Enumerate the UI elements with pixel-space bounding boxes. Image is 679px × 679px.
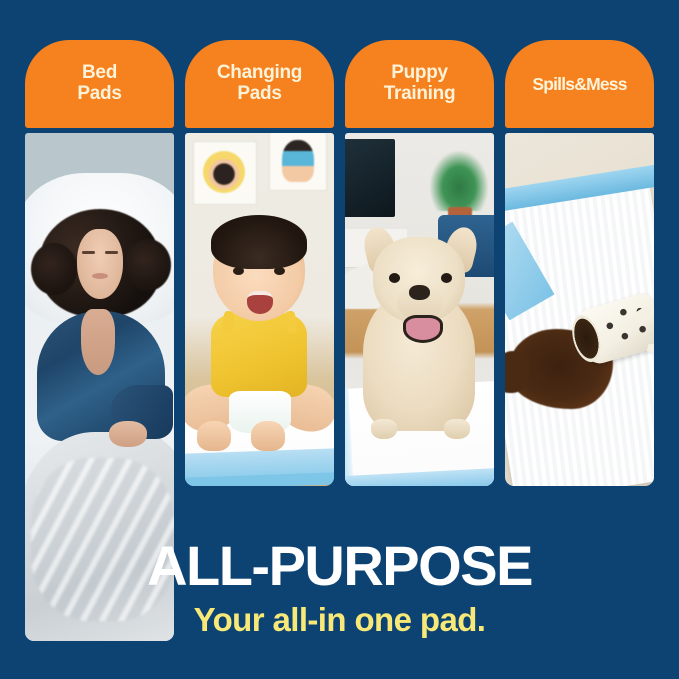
woman-eye-right [105, 251, 118, 254]
baby-foot-right [251, 421, 285, 451]
headline-main: ALL-PURPOSE [0, 538, 679, 594]
dog-eye-right [441, 273, 452, 283]
tab-label-spills-mess: Spills&Mess [532, 75, 626, 94]
wall-poster-boy [269, 133, 327, 191]
houseplant [430, 151, 488, 211]
woman-eye-left [82, 251, 95, 254]
tab-label-changing-pads: Changing Pads [217, 63, 302, 104]
headline-sub: Your all-in one pad. [0, 603, 679, 636]
dog-paw-right [444, 419, 470, 439]
headline-block: ALL-PURPOSE Your all-in one pad. [0, 538, 679, 636]
dog-paw-left [371, 419, 397, 439]
photo-changing-pads [185, 133, 334, 486]
tab-changing-pads: Changing Pads [185, 40, 334, 128]
dog-nose [409, 285, 430, 300]
photo-puppy-training [345, 133, 494, 486]
woman-hand [109, 421, 147, 447]
baby-foot-left [197, 421, 231, 451]
baby-hair [211, 215, 307, 269]
dog-eye-left [389, 273, 400, 283]
wall-poster-girl [193, 141, 257, 205]
woman-chest [81, 309, 115, 375]
woman-lips [92, 273, 108, 279]
television [345, 139, 395, 217]
panel-puppy-training: Puppy Training [345, 40, 494, 486]
dog-tongue [403, 315, 443, 343]
baby-mouth [247, 291, 273, 314]
tab-label-puppy-training: Puppy Training [384, 63, 456, 104]
tab-label-bed-pads: Bed Pads [77, 63, 121, 104]
panel-spills-mess: Spills&Mess [505, 40, 654, 486]
woman-face [77, 229, 123, 299]
tab-bed-pads: Bed Pads [25, 40, 174, 128]
product-poster: Bed Pads Changing Pads [0, 0, 679, 679]
tab-spills-mess: Spills&Mess [505, 40, 654, 128]
baby-strap-right [285, 310, 298, 333]
panel-changing-pads: Changing Pads [185, 40, 334, 486]
tab-puppy-training: Puppy Training [345, 40, 494, 128]
photo-spills-mess [505, 133, 654, 486]
